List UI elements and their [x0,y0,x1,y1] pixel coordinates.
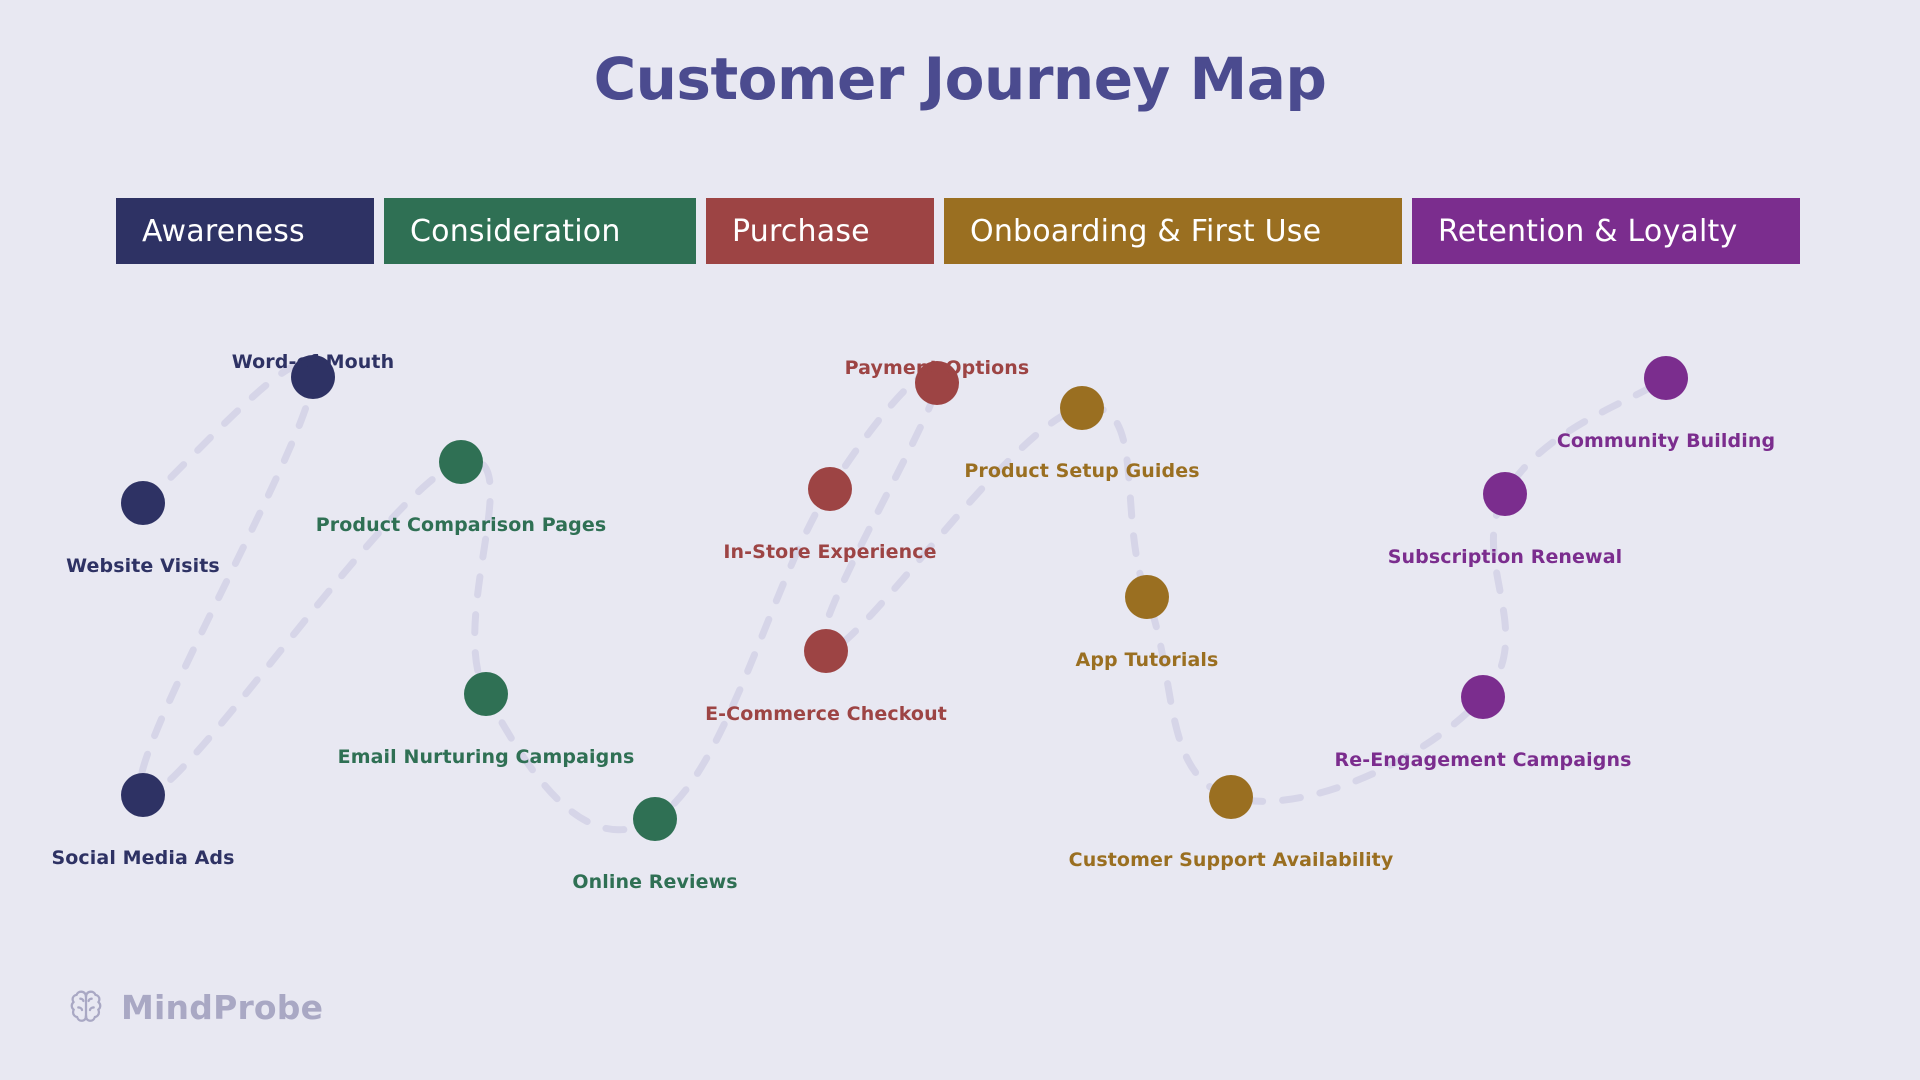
journey-node-re-engagement-campaigns[interactable] [1461,675,1505,719]
journey-node-online-reviews[interactable] [633,797,677,841]
stage-chip-awareness[interactable]: Awareness [116,198,374,264]
stage-legend-bar: AwarenessConsiderationPurchaseOnboarding… [116,198,1800,264]
stage-chip-label: Consideration [410,214,621,249]
stage-chip-retention-loyalty[interactable]: Retention & Loyalty [1412,198,1800,264]
journey-node-label-community-building: Community Building [1557,430,1775,452]
journey-node-payment-options[interactable] [915,361,959,405]
stage-chip-label: Awareness [142,214,305,249]
brand-name: MindProbe [121,988,323,1027]
journey-node-product-comparison-pages[interactable] [439,440,483,484]
journey-node-label-re-engagement-campaigns: Re-Engagement Campaigns [1335,749,1632,771]
journey-node-word-of-mouth[interactable] [291,355,335,399]
journey-node-label-online-reviews: Online Reviews [572,871,737,893]
journey-node-social-media-ads[interactable] [121,773,165,817]
journey-plot-area: Website VisitsWord-of-MouthSocial Media … [0,0,1920,1080]
stage-chip-label: Purchase [732,214,870,249]
journey-node-product-setup-guides[interactable] [1060,386,1104,430]
journey-node-label-customer-support-availability: Customer Support Availability [1069,849,1394,871]
stage-chip-purchase[interactable]: Purchase [706,198,934,264]
journey-node-in-store-experience[interactable] [808,467,852,511]
journey-node-app-tutorials[interactable] [1125,575,1169,619]
stage-chip-onboarding-first-use[interactable]: Onboarding & First Use [944,198,1402,264]
journey-connector-path [140,363,1666,829]
journey-node-label-email-nurturing-campaigns: Email Nurturing Campaigns [338,746,635,768]
stage-chip-label: Onboarding & First Use [970,214,1321,249]
journey-node-community-building[interactable] [1644,356,1688,400]
journey-node-e-commerce-checkout[interactable] [804,629,848,673]
brand-logo: MindProbe [65,986,323,1028]
journey-node-email-nurturing-campaigns[interactable] [464,672,508,716]
journey-connector-svg [0,0,1920,1080]
journey-node-label-social-media-ads: Social Media Ads [51,847,234,869]
journey-node-website-visits[interactable] [121,481,165,525]
journey-node-subscription-renewal[interactable] [1483,472,1527,516]
journey-node-label-website-visits: Website Visits [66,555,220,577]
journey-node-label-app-tutorials: App Tutorials [1076,649,1219,671]
stage-chip-consideration[interactable]: Consideration [384,198,696,264]
page-title: Customer Journey Map [0,45,1920,113]
stage-chip-label: Retention & Loyalty [1438,214,1737,249]
brain-icon [65,986,107,1028]
journey-node-label-e-commerce-checkout: E-Commerce Checkout [705,703,947,725]
journey-node-customer-support-availability[interactable] [1209,775,1253,819]
journey-node-label-subscription-renewal: Subscription Renewal [1388,546,1622,568]
journey-node-label-product-comparison-pages: Product Comparison Pages [316,514,606,536]
journey-node-label-product-setup-guides: Product Setup Guides [964,460,1199,482]
journey-node-label-in-store-experience: In-Store Experience [723,541,936,563]
journey-map-canvas: Customer Journey Map AwarenessConsiderat… [0,0,1920,1080]
